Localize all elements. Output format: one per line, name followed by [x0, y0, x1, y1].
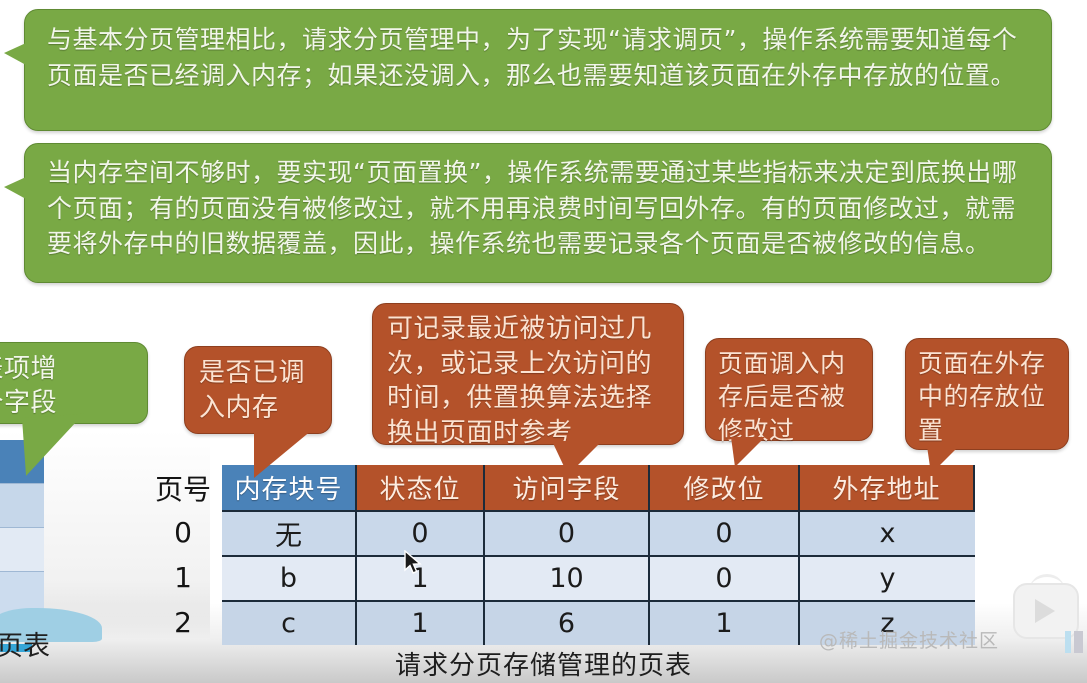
cell-memory-block: b	[222, 555, 357, 600]
slide-canvas: 与基本分页管理相比，请求分页管理中，为了实现“请求调页”，操作系统需要知道每个页…	[0, 0, 1087, 683]
table-row: b 1 10 0 y	[222, 555, 975, 600]
callout-orange-external-address-text: 页面在外存中的存放位置	[905, 338, 1069, 450]
cell-external-address: y	[800, 555, 975, 600]
callout-tail-icon	[22, 414, 88, 476]
callout-orange-external-address: 页面在外存中的存放位置	[905, 338, 1069, 450]
page-number-gutter: 页号 0 1 2	[150, 465, 216, 645]
gutter-page-number: 1	[150, 555, 216, 600]
cell-memory-block: 无	[222, 510, 357, 555]
cell-memory-block: c	[222, 600, 357, 645]
cell-modify-bit: 0	[650, 510, 800, 555]
mouse-cursor-icon	[404, 550, 424, 578]
callout-orange-status-bit-text: 是否已调 入内存	[184, 346, 332, 434]
cell-modify-bit: 1	[650, 600, 800, 645]
gutter-page-number: 0	[150, 510, 216, 555]
callout-green-page-replacement-text: 当内存空间不够时，要实现“页面置换”，操作系统需要通过某些指标来决定到底换出哪个…	[24, 143, 1052, 283]
table-row: 无 0 0 0 x	[222, 510, 975, 555]
cell-external-address: x	[800, 510, 975, 555]
watermark-text: @稀土掘金技术社区	[819, 626, 999, 653]
page-table: 内存块号 状态位 访问字段 修改位 外存地址 无 0 0 0 x b 1 10 …	[222, 465, 975, 645]
callout-orange-status-bit: 是否已调 入内存	[184, 346, 332, 434]
fragment-row	[0, 528, 44, 572]
callout-tail-icon	[927, 446, 959, 474]
cell-status-bit: 0	[357, 510, 485, 555]
fragment-row	[0, 484, 44, 528]
callout-orange-modify-bit: 页面调入内存后是否被修改过	[705, 338, 873, 441]
callout-tail-icon	[4, 177, 26, 199]
cell-status-bit: 1	[357, 600, 485, 645]
callout-tail-icon	[4, 43, 26, 65]
watermark-bars-icon	[1065, 631, 1083, 653]
callout-green-demand-paging-text: 与基本分页管理相比，请求分页管理中，为了实现“请求调页”，操作系统需要知道每个页…	[24, 9, 1052, 131]
callout-tail-icon	[731, 437, 765, 467]
callout-tail-icon	[254, 430, 312, 478]
gutter-header: 页号	[150, 465, 216, 510]
callout-orange-modify-bit-text: 页面调入内存后是否被修改过	[705, 338, 873, 441]
callout-green-demand-paging: 与基本分页管理相比，请求分页管理中，为了实现“请求调页”，操作系统需要知道每个页…	[24, 9, 1052, 131]
cell-access-field: 0	[485, 510, 650, 555]
column-header-status-bit: 状态位	[357, 465, 485, 510]
callout-orange-access-field: 可记录最近被访问过几次，或记录上次访问的时间，供置换算法选择换出页面时参考	[372, 303, 684, 445]
callout-orange-access-field-text: 可记录最近被访问过几次，或记录上次访问的时间，供置换算法选择换出页面时参考	[372, 303, 684, 445]
cell-modify-bit: 0	[650, 555, 800, 600]
column-header-modify-bit: 修改位	[650, 465, 800, 510]
callout-tail-icon	[552, 441, 602, 475]
cell-access-field: 10	[485, 555, 650, 600]
callout-green-four-fields: 页表项增 四个字段	[0, 342, 148, 424]
callout-green-page-replacement: 当内存空间不够时，要实现“页面置换”，操作系统需要通过某些指标来决定到底换出哪个…	[24, 143, 1052, 283]
callout-green-four-fields-text: 页表项增 四个字段	[0, 342, 148, 424]
cell-access-field: 6	[485, 600, 650, 645]
gutter-page-number: 2	[150, 600, 216, 645]
